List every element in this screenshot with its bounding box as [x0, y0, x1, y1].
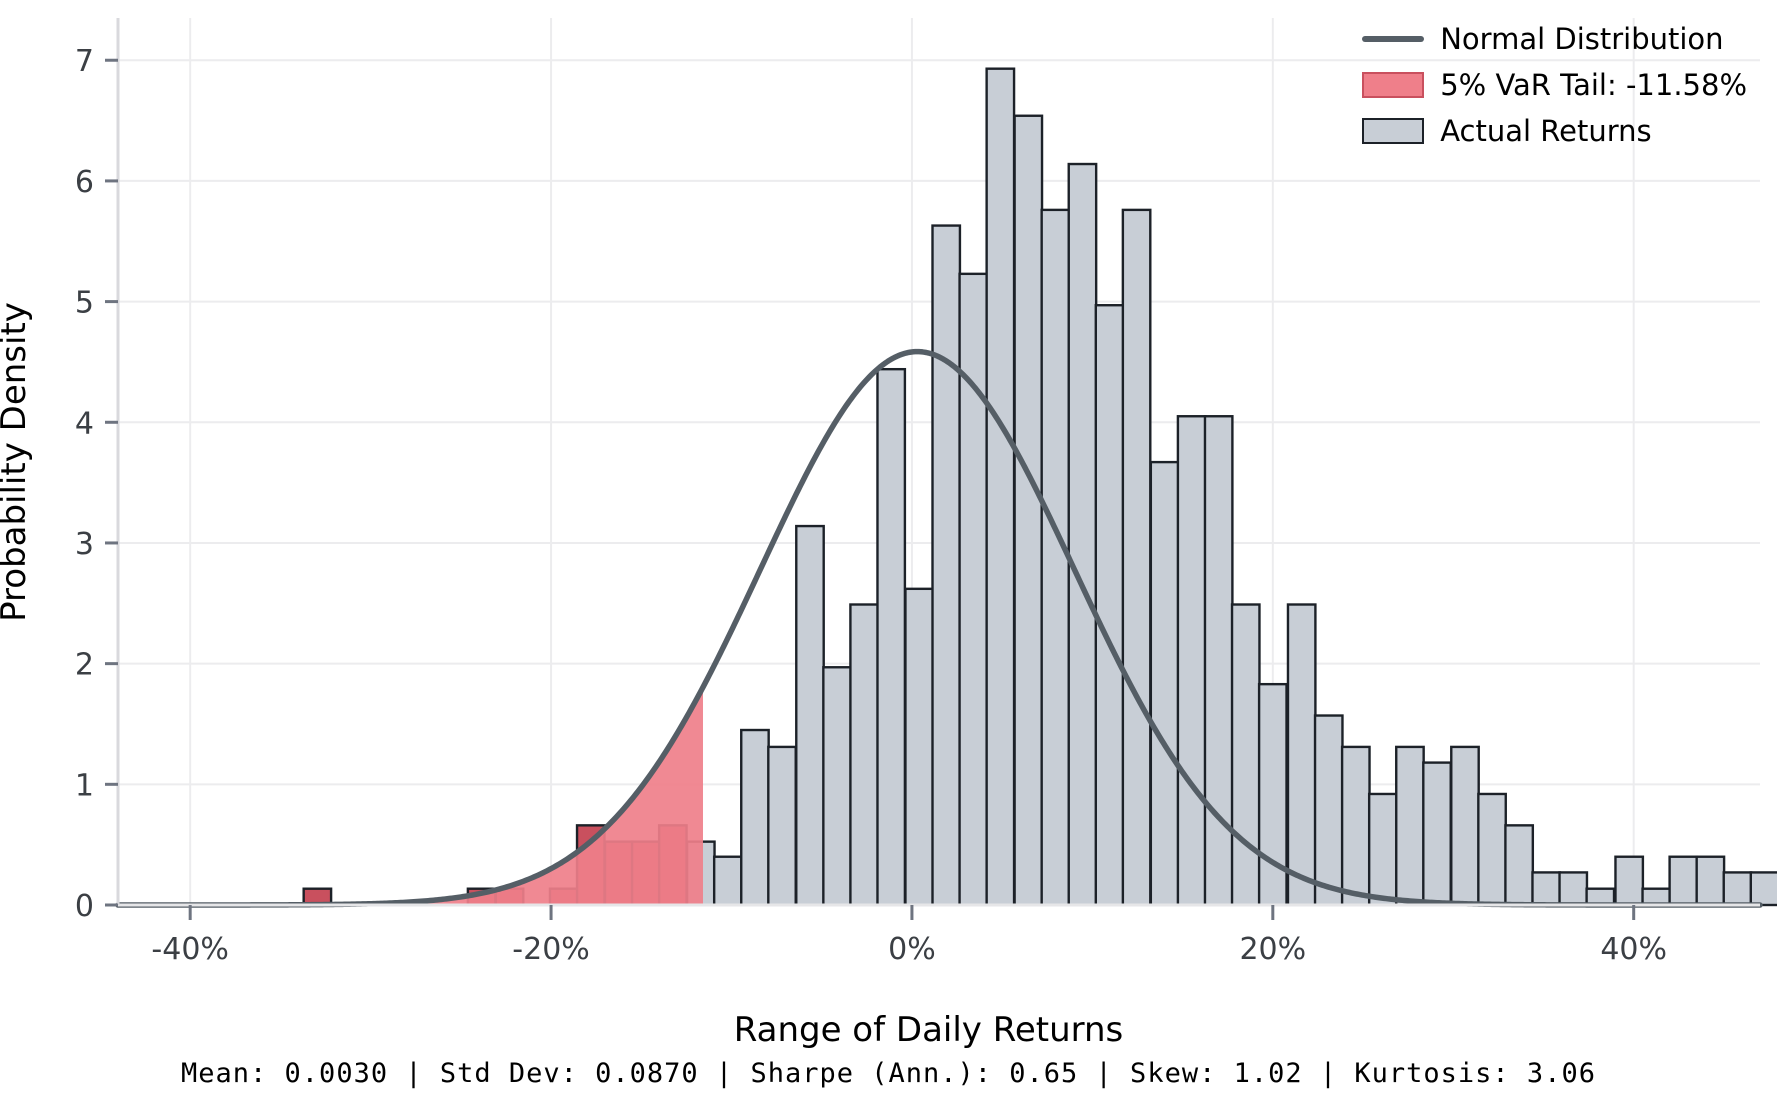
histogram-bar — [796, 526, 823, 905]
legend-item: 5% VaR Tail: -11.58% — [1362, 68, 1747, 102]
histogram-bar — [1205, 416, 1232, 905]
histogram-bar — [877, 369, 904, 905]
histogram-bar — [1342, 747, 1369, 905]
histogram-bar — [1123, 210, 1150, 905]
x-axis-tick-label: -40% — [151, 932, 229, 967]
histogram-bar — [1259, 684, 1286, 905]
histogram-bar — [1315, 716, 1342, 905]
y-axis-tick-label: 4 — [75, 406, 94, 441]
x-axis-tick-label: 40% — [1600, 932, 1667, 967]
x-axis-tick-label: 0% — [888, 932, 936, 967]
legend-item: Actual Returns — [1362, 114, 1747, 148]
histogram-bar — [1178, 416, 1205, 905]
legend-item: Normal Distribution — [1362, 22, 1747, 56]
y-axis-tick-label: 1 — [75, 768, 94, 803]
histogram-bar — [1396, 747, 1423, 905]
legend-item-label: Actual Returns — [1440, 114, 1651, 148]
histogram-bar — [1151, 462, 1178, 905]
summary-statistics: Mean: 0.0030 | Std Dev: 0.0870 | Sharpe … — [0, 1058, 1777, 1089]
histogram-bar — [1042, 210, 1069, 905]
legend-line-swatch — [1362, 26, 1424, 52]
histogram-bar — [1069, 164, 1096, 905]
y-axis-title: Probability Density — [0, 302, 34, 622]
histogram-bar — [905, 589, 932, 905]
histogram-bar — [1423, 763, 1450, 905]
histogram-bar — [1670, 857, 1697, 905]
legend-item-label: 5% VaR Tail: -11.58% — [1440, 68, 1747, 102]
x-axis-tick-label: -20% — [512, 932, 590, 967]
y-axis-tick-label: 3 — [75, 527, 94, 562]
histogram-bar — [960, 274, 987, 905]
y-axis-tick-label: 5 — [75, 286, 94, 321]
histogram-bar — [1451, 747, 1478, 905]
x-axis-title: Range of Daily Returns — [40, 1010, 1777, 1050]
histogram-bar — [1724, 872, 1751, 905]
histogram-bar — [933, 226, 960, 905]
histogram-bar — [714, 857, 741, 905]
y-axis-tick-label: 0 — [75, 889, 94, 924]
x-axis-tick-label: 20% — [1239, 932, 1306, 967]
legend-item-label: Normal Distribution — [1440, 22, 1723, 56]
legend-patch-swatch — [1362, 72, 1424, 98]
histogram-bar — [1615, 857, 1642, 905]
histogram-chart: 01234567 -40%-20%0%20%40% — [0, 0, 1777, 1105]
histogram-bar — [1232, 605, 1259, 905]
histogram-bar — [1697, 857, 1724, 905]
histogram-bar — [1369, 794, 1396, 905]
y-axis-tick-label: 6 — [75, 165, 94, 200]
histogram-bar — [741, 730, 768, 905]
histogram-bar — [1288, 605, 1315, 905]
histogram-bar — [1096, 305, 1123, 905]
legend: Normal Distribution5% VaR Tail: -11.58%A… — [1362, 22, 1747, 160]
histogram-bar — [1478, 794, 1505, 905]
histogram-bar — [1560, 872, 1587, 905]
histogram-bar — [1505, 825, 1532, 905]
histogram-bar — [850, 605, 877, 905]
histogram-bar — [768, 747, 795, 905]
histogram-bar — [1015, 116, 1042, 905]
chart-figure: 01234567 -40%-20%0%20%40% Probability De… — [0, 0, 1777, 1105]
legend-patch-swatch — [1362, 118, 1424, 144]
histogram-bar — [823, 667, 850, 905]
histogram-bar — [987, 69, 1014, 905]
histogram-bar — [1751, 872, 1777, 905]
histogram-bar — [1532, 872, 1559, 905]
y-axis-tick-label: 2 — [75, 648, 94, 683]
y-axis-tick-label: 7 — [75, 44, 94, 79]
